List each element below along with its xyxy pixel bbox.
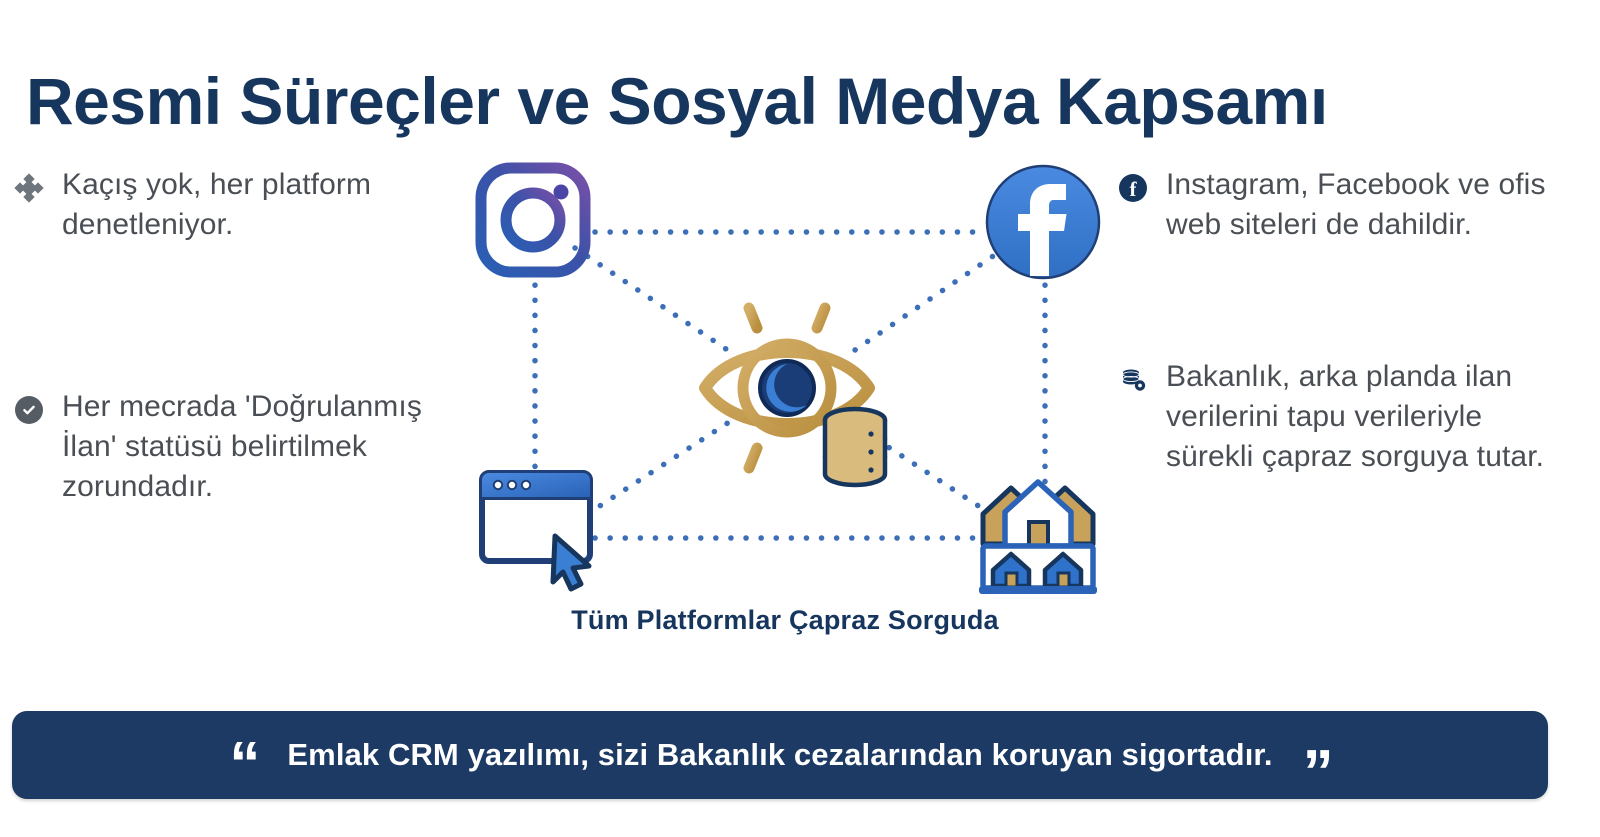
right-bullet-column: f Instagram, Facebook ve ofis web sitele… [1118, 165, 1548, 476]
facebook-badge-icon: f [1118, 165, 1148, 205]
list-item: f Instagram, Facebook ve ofis web sitele… [1118, 165, 1548, 245]
page-title: Resmi Süreçler ve Sosyal Medya Kapsamı [26, 66, 1566, 137]
instagram-icon [481, 168, 585, 272]
database-gear-icon [1118, 357, 1148, 397]
browser-window-cursor-icon [482, 473, 590, 589]
list-item: Her mecrada 'Doğrulanmış İlan' statüsü b… [14, 387, 444, 507]
check-circle-icon [14, 387, 44, 427]
quote-banner: “ Emlak CRM yazılımı, sizi Bakanlık ceza… [12, 711, 1548, 799]
left-bullet-1-text: Kaçış yok, her platform denetleniyor. [62, 165, 444, 245]
left-bullet-2-text: Her mecrada 'Doğrulanmış İlan' statüsü b… [62, 387, 444, 507]
cross-query-diagram: Tüm Platformlar Çapraz Sorguda [455, 150, 1115, 650]
list-item: Bakanlık, arka planda ilan verilerini ta… [1118, 357, 1548, 477]
diamond-cluster-icon [14, 165, 44, 205]
houses-icon [979, 482, 1097, 594]
right-bullet-2-text: Bakanlık, arka planda ilan verilerini ta… [1166, 357, 1548, 477]
diagram-caption: Tüm Platformlar Çapraz Sorguda [455, 605, 1115, 636]
right-bullet-1-text: Instagram, Facebook ve ofis web siteleri… [1166, 165, 1548, 245]
list-item: Kaçış yok, her platform denetleniyor. [14, 165, 444, 245]
eye-database-icon [705, 298, 885, 485]
quote-text: Emlak CRM yazılımı, sizi Bakanlık cezala… [287, 737, 1272, 773]
left-bullet-column: Kaçış yok, her platform denetleniyor. He… [14, 165, 444, 506]
facebook-icon [987, 166, 1099, 278]
